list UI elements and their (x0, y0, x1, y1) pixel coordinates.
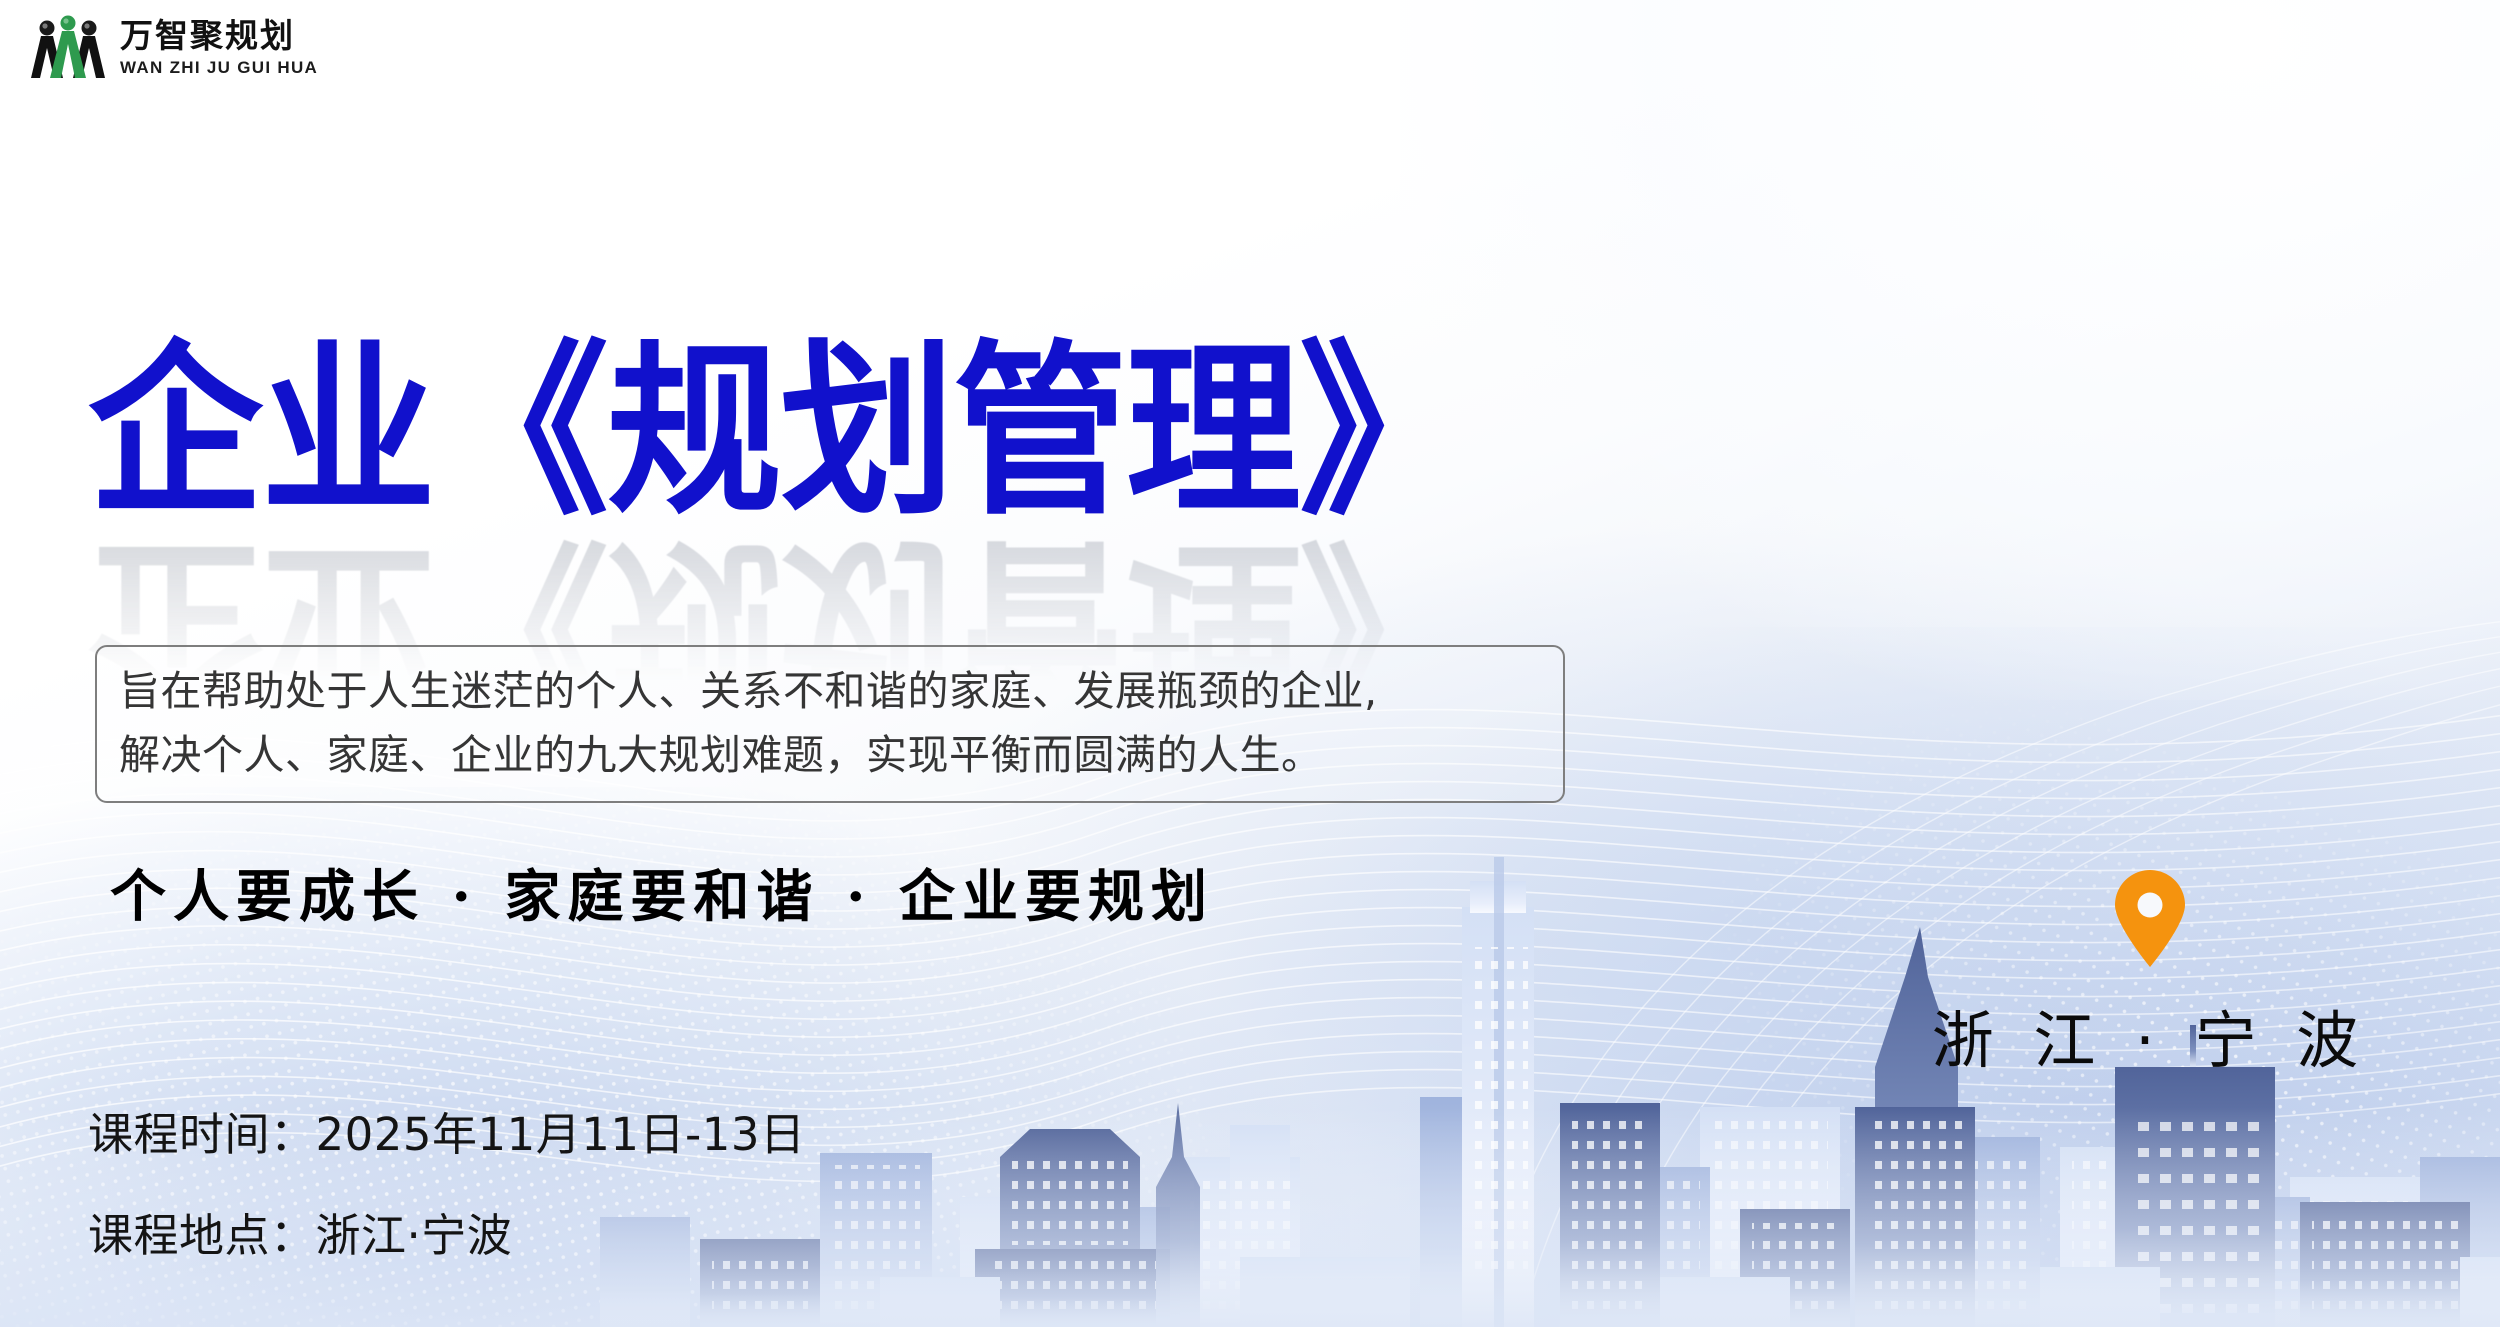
brand-name-cn: 万智聚规划 (120, 19, 318, 52)
description-line-1: 旨在帮助处于人生迷茫的个人、关系不和谐的家庭、发展瓶颈的企业, (119, 660, 1541, 724)
three-people-logo-icon (30, 14, 106, 80)
hero-title-block: 企业《规划管理》 企业《规划管理》 (88, 340, 1588, 890)
tagline: 个人要成长 · 家庭要和谐 · 企业要规划 (110, 852, 1214, 933)
course-time: 课程时间：2025年11月11日-13日 (88, 1098, 806, 1163)
description-line-2: 解决个人、家庭、企业的九大规划难题，实现平衡而圆满的人生。 (119, 724, 1541, 788)
course-info: 课程时间：2025年11月11日-13日 课程地点：浙江·宁波 (88, 1098, 806, 1264)
course-place: 课程地点：浙江·宁波 (88, 1199, 806, 1264)
page-title: 企业《规划管理》 (88, 340, 1588, 526)
description-box: 旨在帮助处于人生迷茫的个人、关系不和谐的家庭、发展瓶颈的企业, 解决个人、家庭、… (95, 645, 1565, 803)
poster-canvas: 万智聚规划 WAN ZHI JU GUI HUA 企业《规划管理》 企业《规划管… (0, 0, 2500, 1327)
map-pin-icon (2112, 870, 2188, 968)
brand-logo[interactable]: 万智聚规划 WAN ZHI JU GUI HUA (30, 14, 318, 80)
location-city: 浙 江 · 宁 波 (1930, 990, 2370, 1080)
location-block: 浙 江 · 宁 波 (1930, 870, 2370, 1080)
brand-name-pinyin: WAN ZHI JU GUI HUA (120, 59, 318, 76)
